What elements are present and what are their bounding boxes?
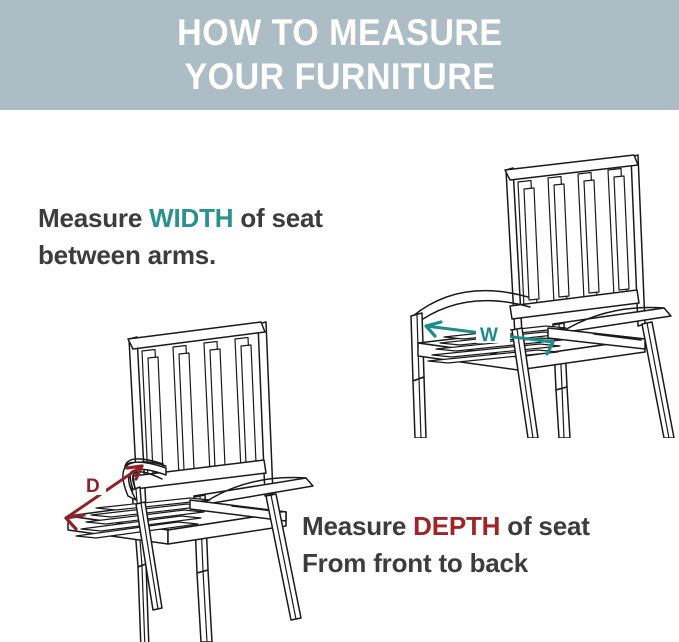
infographic-page: HOW TO MEASURE YOUR FURNITURE Measure WI… [0, 0, 679, 642]
banner-title-line-2: YOUR FURNITURE [184, 55, 495, 99]
width-caption-line-1: Measure WIDTH of seat [38, 200, 323, 237]
depth-caption: Measure DEPTH of seat From front to back [302, 508, 590, 582]
width-caption: Measure WIDTH of seat between arms. [38, 200, 323, 274]
width-dimension-label: W [480, 325, 498, 346]
banner-title-line-1: HOW TO MEASURE [177, 11, 502, 55]
chair-illustration-width: W [398, 138, 679, 438]
header-banner: HOW TO MEASURE YOUR FURNITURE [0, 0, 679, 110]
depth-caption-prefix: Measure [302, 511, 413, 541]
depth-keyword: DEPTH [413, 511, 500, 541]
width-keyword: WIDTH [149, 203, 233, 233]
width-caption-suffix: of seat [233, 203, 322, 233]
width-caption-line-2: between arms. [38, 237, 323, 274]
depth-dimension-label: D [86, 476, 100, 497]
chair-illustration-depth: D [18, 318, 318, 642]
depth-caption-suffix: of seat [500, 511, 589, 541]
depth-caption-line-1: Measure DEPTH of seat [302, 508, 590, 545]
width-caption-prefix: Measure [38, 203, 149, 233]
depth-caption-line-2: From front to back [302, 545, 590, 582]
